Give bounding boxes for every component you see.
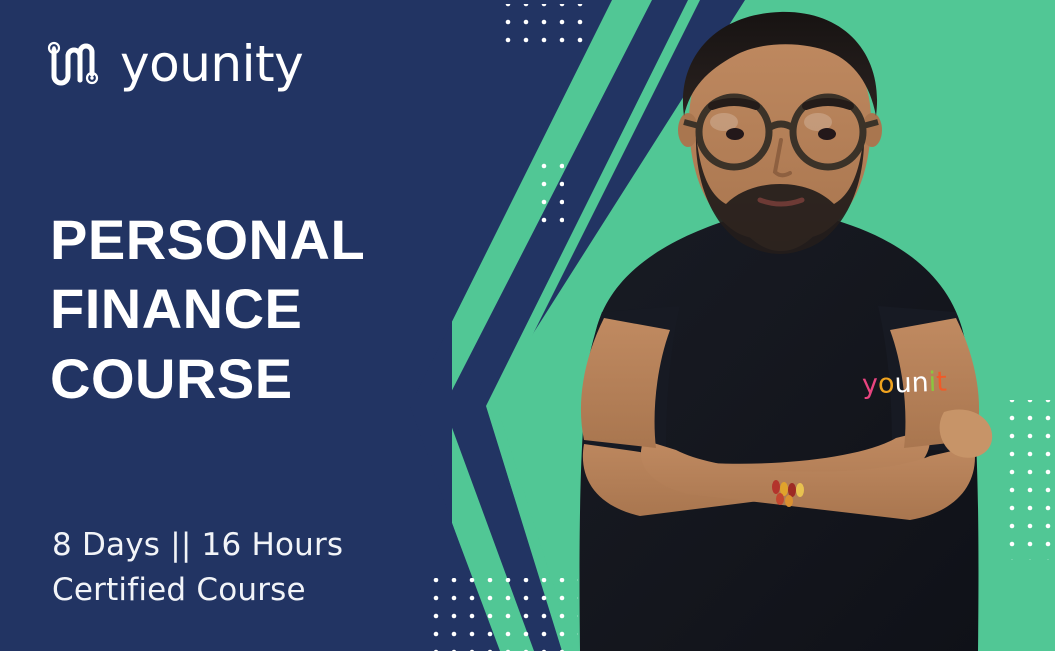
wordmark-part-ity: ity xyxy=(242,39,304,89)
eye-left xyxy=(726,128,744,140)
wordmark-part-un: un xyxy=(179,39,241,89)
shirt-logo-letter-y: y xyxy=(862,371,879,399)
shirt-logo-letter-n: n xyxy=(911,369,929,397)
younity-ribbon-mark xyxy=(44,36,106,92)
instructor-illustration xyxy=(548,0,1055,651)
shirt-logo-letter-t: t xyxy=(936,369,948,396)
page-title: PERSONAL FINANCE COURSE xyxy=(50,205,365,413)
instructor-photo xyxy=(548,0,1055,651)
course-duration: 8 Days || 16 Hours xyxy=(52,523,343,568)
shirt-logo-letter-o: o xyxy=(878,370,895,398)
shirt-logo-letter-u: u xyxy=(894,370,912,398)
shirt-brand-logo: younit xyxy=(862,369,948,399)
headline-line-1: PERSONAL xyxy=(50,205,365,274)
younity-wordmark: younity xyxy=(120,39,303,89)
headline-line-3: COURSE xyxy=(50,344,365,413)
ear-left xyxy=(678,113,698,147)
course-certification: Certified Course xyxy=(52,568,343,613)
brow-right xyxy=(806,102,850,106)
eye-right xyxy=(818,128,836,140)
younity-logo[interactable]: younity xyxy=(44,36,303,92)
brow-left xyxy=(712,102,756,106)
course-details: 8 Days || 16 Hours Certified Course xyxy=(52,523,343,613)
headline-line-2: FINANCE xyxy=(50,274,365,343)
course-promo-banner: younit younity PERSONAL FINANCE COURSE 8… xyxy=(0,0,1055,651)
wordmark-part-yo: yo xyxy=(120,39,179,89)
